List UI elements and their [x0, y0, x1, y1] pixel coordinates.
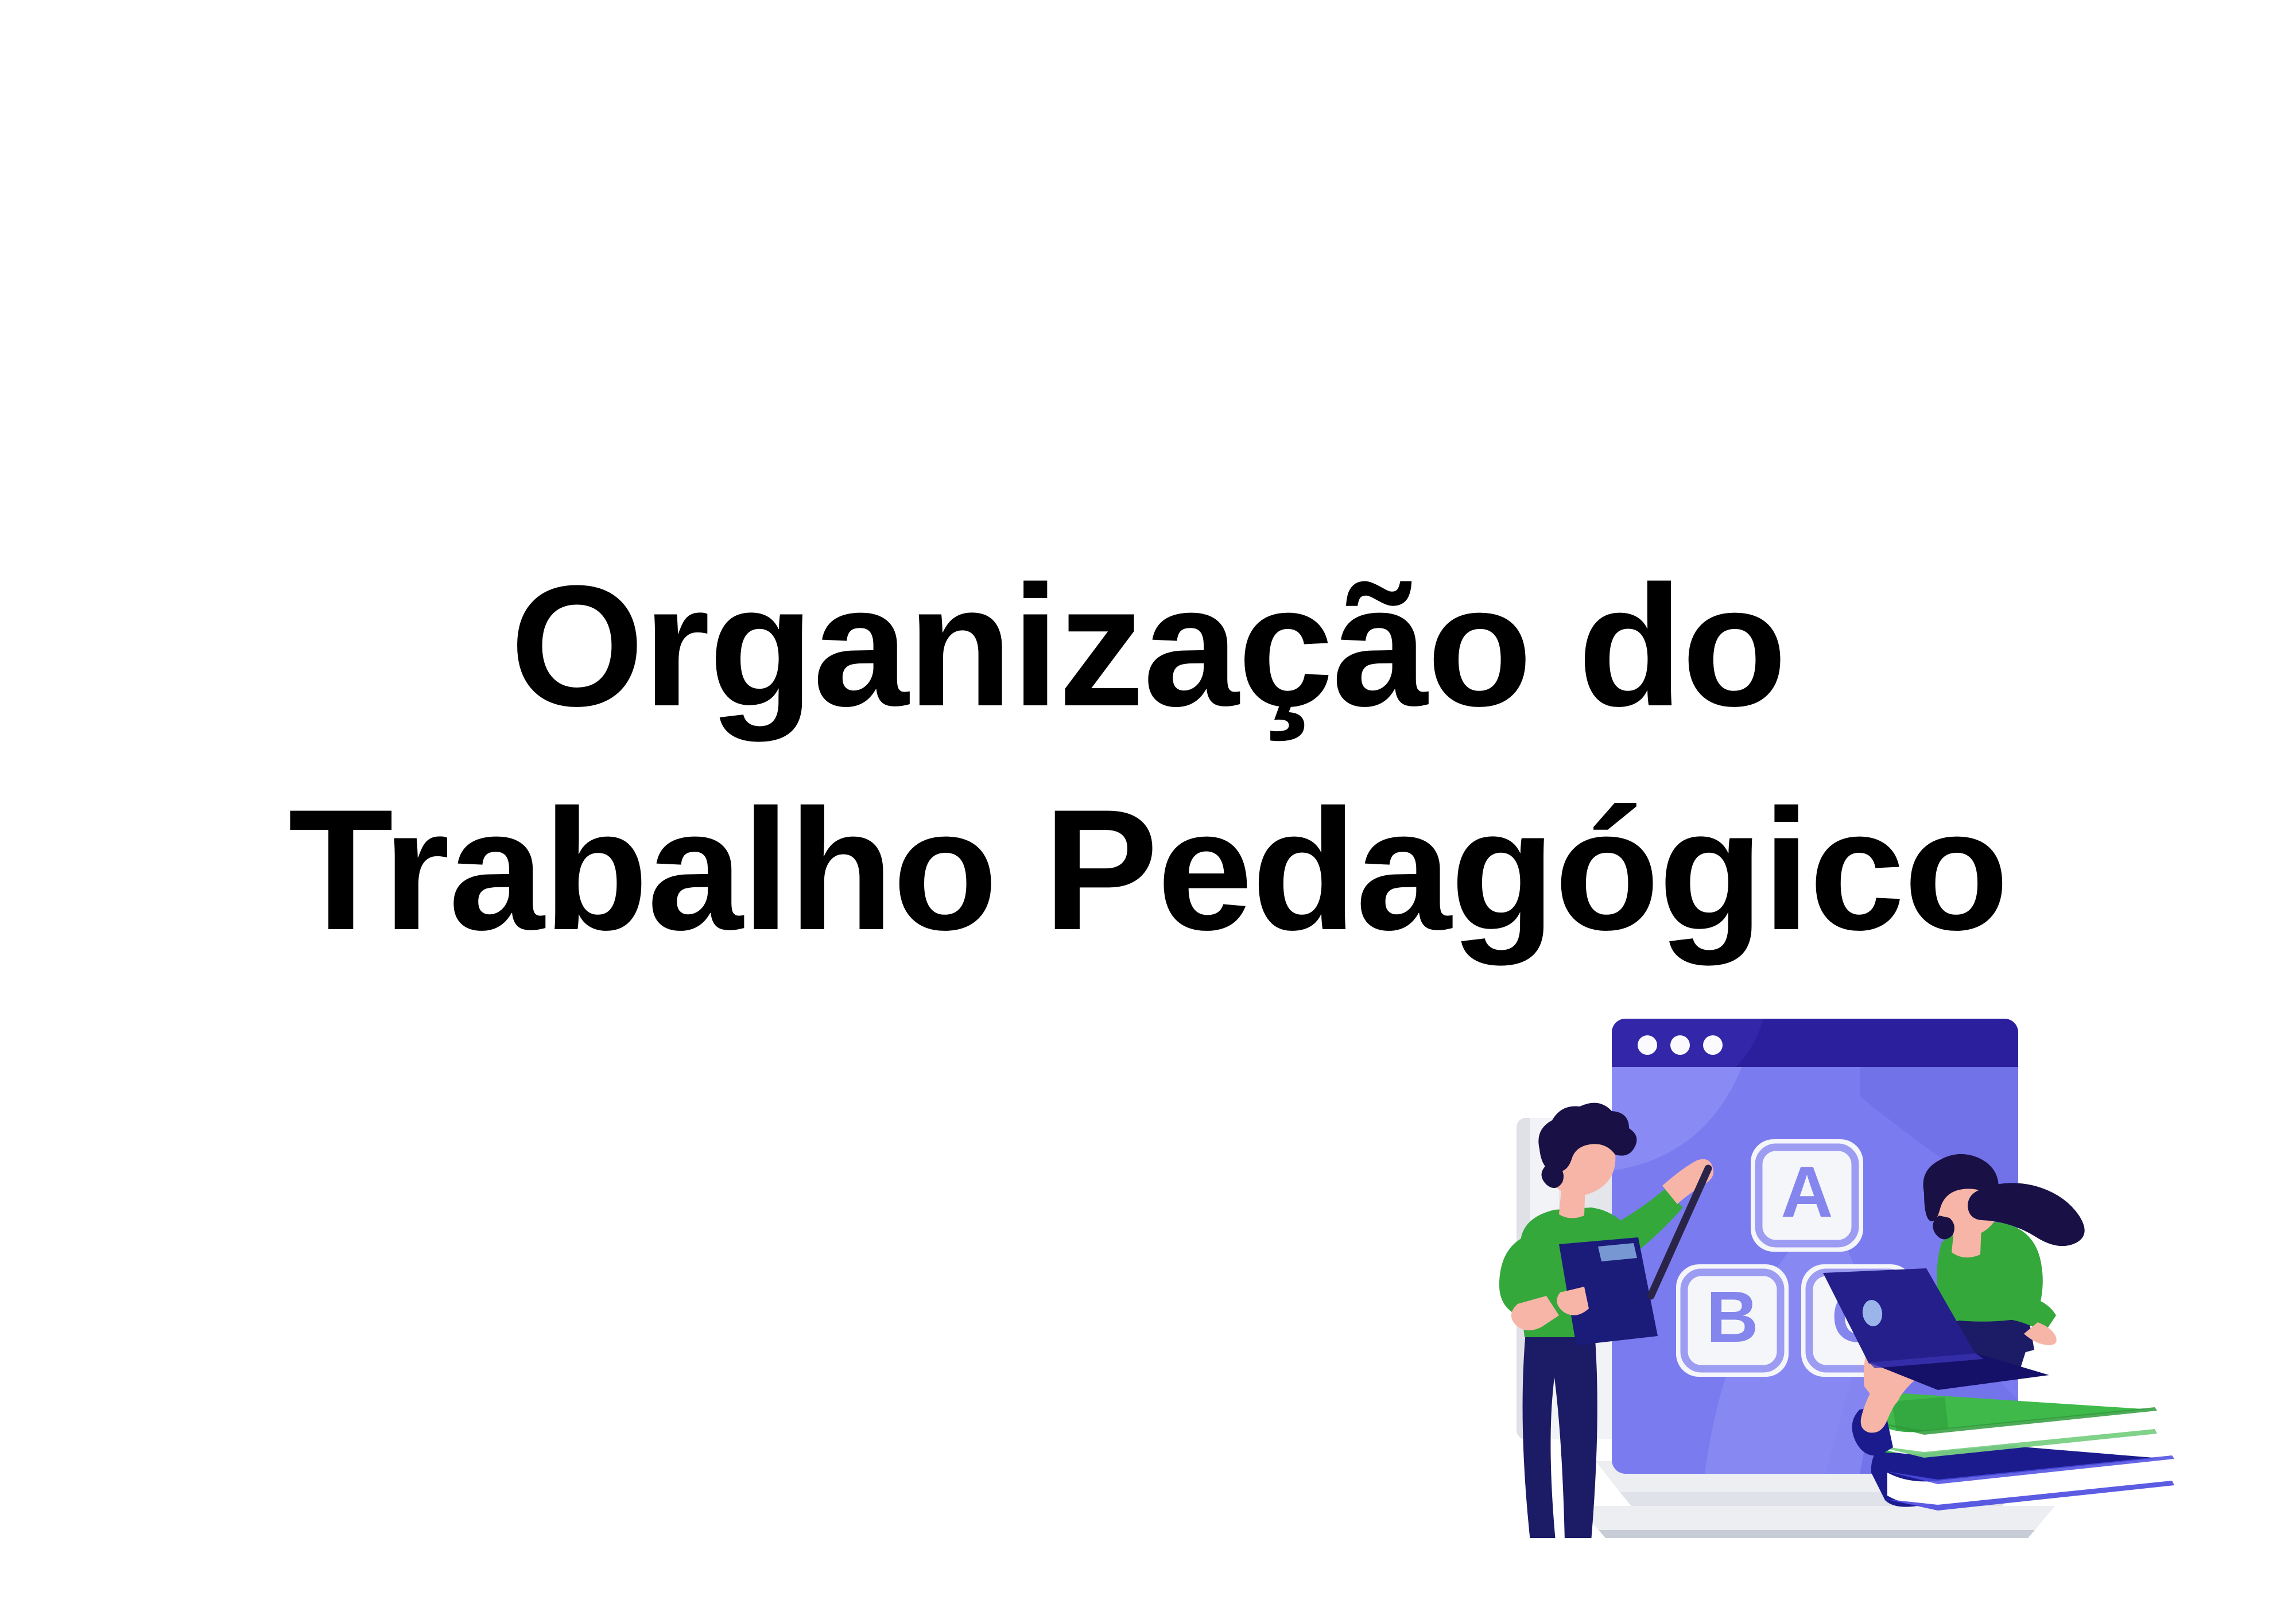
window-dot-icon-1 [1638, 1035, 1657, 1055]
slide-canvas: Organização do Trabalho Pedagógico [0, 0, 2296, 1623]
svg-text:A: A [1781, 1151, 1833, 1232]
title-line-1: Organização do [0, 534, 2296, 758]
book-stack [1861, 1393, 2174, 1511]
page-title: Organização do Trabalho Pedagógico [0, 534, 2296, 981]
svg-text:B: B [1707, 1276, 1759, 1357]
online-teaching-illustration: A B C [1458, 964, 2262, 1538]
title-line-2: Trabalho Pedagógico [0, 758, 2296, 981]
block-b: B [1676, 1264, 1789, 1377]
block-a: A [1751, 1139, 1863, 1252]
window-dot-icon-3 [1703, 1035, 1723, 1055]
window-dot-icon-2 [1670, 1035, 1690, 1055]
green-book [1861, 1393, 2157, 1458]
